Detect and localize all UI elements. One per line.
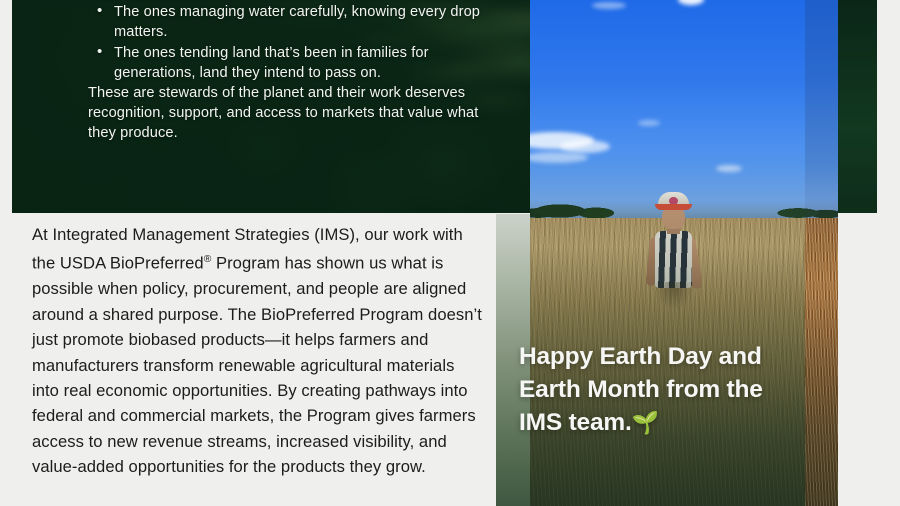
- bullet-item: The ones tending land that’s been in fam…: [88, 43, 498, 83]
- headline-line-1: Happy Earth Day and: [519, 340, 819, 373]
- headline-line-2: Earth Month from the: [519, 373, 819, 406]
- bullet-item: The ones managing water carefully, knowi…: [88, 2, 498, 42]
- headline-line-3-wrap: IMS team.🌱: [519, 406, 819, 439]
- earth-day-headline: Happy Earth Day and Earth Month from the…: [519, 340, 819, 439]
- green-right-accent-block: [838, 0, 877, 213]
- headline-line-3: IMS team.: [519, 409, 632, 436]
- green-panel-copy: stripping it. The ones managing water ca…: [88, 0, 498, 144]
- slide-canvas: stripping it. The ones managing water ca…: [0, 0, 900, 506]
- body-paragraph: At Integrated Management Strategies (IMS…: [32, 222, 484, 480]
- photo-darkening-scrim: [530, 150, 805, 506]
- cloud-icon: [592, 2, 626, 9]
- body-paragraph-part-2: Program has shown us what is possible wh…: [32, 254, 482, 476]
- stewards-bullet-list: The ones managing water carefully, knowi…: [88, 2, 498, 83]
- seedling-icon: 🌱: [632, 410, 659, 435]
- closing-paragraph: These are stewards of the planet and the…: [88, 83, 498, 144]
- photo-seam-overlay: [805, 0, 838, 218]
- cloud-icon: [638, 120, 660, 126]
- cloud-icon: [678, 0, 704, 5]
